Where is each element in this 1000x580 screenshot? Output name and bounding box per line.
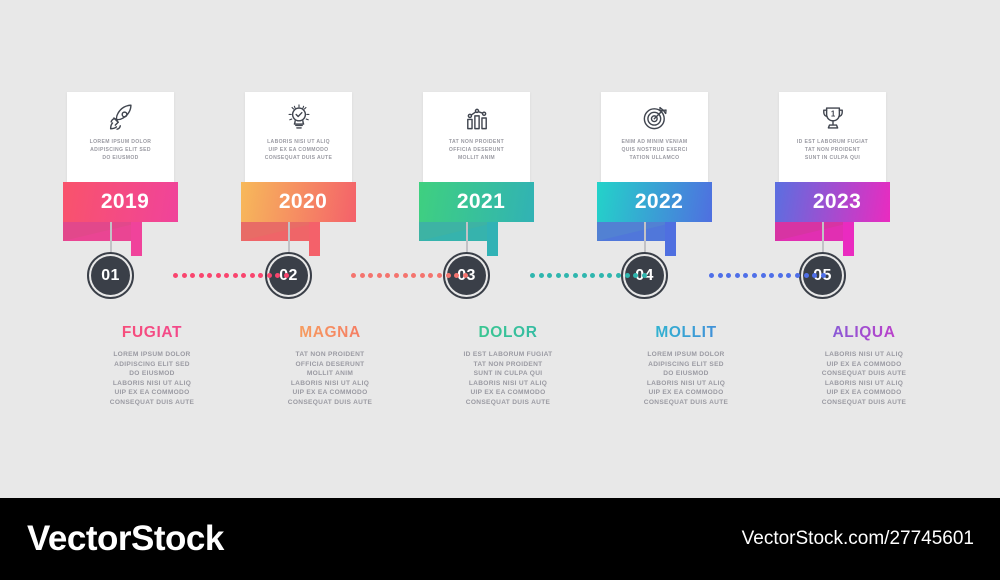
connector-dot [182, 273, 187, 278]
connector-dot [267, 273, 272, 278]
ribbon-tail [419, 222, 534, 256]
connector-dot [250, 273, 255, 278]
connector-dot [735, 273, 740, 278]
connector-dot [437, 273, 442, 278]
connector-dot [258, 273, 263, 278]
step-headline: DOLOR [419, 324, 597, 342]
step-body-line: LABORIS NISI UT ALIQ [419, 379, 597, 389]
step-body-text: LOREM IPSUM DOLORADIPISCING ELIT SEDDO E… [63, 350, 241, 408]
connector-dot [761, 273, 766, 278]
step-body-line: UIP EX EA COMMODO [63, 388, 241, 398]
connector-dot [385, 273, 390, 278]
connector-dot [190, 273, 195, 278]
connector-stem [288, 222, 290, 254]
connector-dot [428, 273, 433, 278]
step-headline: ALIQUA [775, 324, 953, 342]
connector-dot [812, 273, 817, 278]
connector-dot [564, 273, 569, 278]
step-body-text: LOREM IPSUM DOLORADIPISCING ELIT SEDDO E… [597, 350, 775, 408]
step-body-line: UIP EX EA COMMODO [775, 360, 953, 370]
connector-dot [769, 273, 774, 278]
step-body-text: TAT NON PROIDENTOFFICIA DESERUNTMOLLIT A… [241, 350, 419, 408]
card-description-line: LABORIS NISI UT ALIQ [249, 138, 348, 146]
step-body-line: CONSEQUAT DUIS AUTE [241, 398, 419, 408]
connector-dot [216, 273, 221, 278]
step-body-line: OFFICIA DESERUNT [241, 360, 419, 370]
step-body-line: UIP EX EA COMMODO [419, 388, 597, 398]
connector-stem [110, 222, 112, 254]
step-body-line: ID EST LABORUM FUGIAT [419, 350, 597, 360]
connector-dot [403, 273, 408, 278]
card-description: LABORIS NISI UT ALIQUIP EX EA COMMODOCON… [245, 138, 352, 163]
step-body-line: LABORIS NISI UT ALIQ [775, 379, 953, 389]
step-body-line: LOREM IPSUM DOLOR [63, 350, 241, 360]
card-description-line: TAT NON PROIDENT [427, 138, 526, 146]
connector-dot [420, 273, 425, 278]
step-headline: FUGIAT [63, 324, 241, 342]
connector-dot [642, 273, 647, 278]
connector-dot [726, 273, 731, 278]
step-body-line: LABORIS NISI UT ALIQ [775, 350, 953, 360]
vectorstock-url: VectorStock.com/27745601 [742, 528, 974, 550]
connector-dot [599, 273, 604, 278]
timeline-step: LABORIS NISI UT ALIQUIP EX EA COMMODOCON… [241, 0, 419, 498]
step-body-line: CONSEQUAT DUIS AUTE [775, 398, 953, 408]
dotted-connector [709, 272, 826, 279]
step-body-line: MOLLIT ANIM [241, 369, 419, 379]
card-description-line: DO EIUSMOD [71, 154, 170, 162]
connector-dot [718, 273, 723, 278]
card-description-line: SUNT IN CULPA QUI [783, 154, 882, 162]
card-description-line: MOLLIT ANIM [427, 154, 526, 162]
card-description-line: OFFICIA DESERUNT [427, 146, 526, 154]
connector-dot [446, 273, 451, 278]
step-body-line: TAT NON PROIDENT [241, 350, 419, 360]
step-body-line: CONSEQUAT DUIS AUTE [63, 398, 241, 408]
connector-dot [275, 273, 280, 278]
year-ribbon: 2021 [419, 182, 534, 222]
trophy-icon: 1 [779, 92, 886, 138]
timeline-step: TAT NON PROIDENTOFFICIA DESERUNTMOLLIT A… [419, 0, 597, 498]
connector-dot [241, 273, 246, 278]
card-description: TAT NON PROIDENTOFFICIA DESERUNTMOLLIT A… [423, 138, 530, 163]
step-card: TAT NON PROIDENTOFFICIA DESERUNTMOLLIT A… [423, 92, 530, 182]
target-arrow-icon [601, 92, 708, 138]
step-body-text: LABORIS NISI UT ALIQUIP EX EA COMMODOCON… [775, 350, 953, 408]
connector-dot [351, 273, 356, 278]
connector-dot [377, 273, 382, 278]
year-ribbon: 2023 [775, 182, 890, 222]
connector-dot [233, 273, 238, 278]
year-label: 2020 [241, 182, 356, 222]
connector-dot [530, 273, 535, 278]
ribbon-tail [597, 222, 712, 256]
card-description-line: ID EST LABORUM FUGIAT [783, 138, 882, 146]
step-body-line: LABORIS NISI UT ALIQ [241, 379, 419, 389]
connector-dot [625, 273, 630, 278]
year-ribbon: 2022 [597, 182, 712, 222]
connector-dot [173, 273, 178, 278]
card-description-line: QUIS NOSTRUD EXERCI [605, 146, 704, 154]
connector-dot [616, 273, 621, 278]
step-body-line: UIP EX EA COMMODO [775, 388, 953, 398]
timeline-step: 1 ID EST LABORUM FUGIATTAT NON PROIDENTS… [775, 0, 953, 498]
connector-dot [411, 273, 416, 278]
step-headline: MOLLIT [597, 324, 775, 342]
rocket-icon [67, 92, 174, 138]
year-ribbon: 2020 [241, 182, 356, 222]
connector-dot [539, 273, 544, 278]
connector-dot [547, 273, 552, 278]
step-body-line: LABORIS NISI UT ALIQ [63, 379, 241, 389]
card-description: LOREM IPSUM DOLORADIPISCING ELIT SEDDO E… [67, 138, 174, 163]
card-description-line: ENIM AD MINIM VENIAM [605, 138, 704, 146]
ribbon-tail [63, 222, 178, 256]
timeline-step: LOREM IPSUM DOLORADIPISCING ELIT SEDDO E… [63, 0, 241, 498]
step-body-line: UIP EX EA COMMODO [597, 388, 775, 398]
connector-stem [466, 222, 468, 254]
card-description-line: UIP EX EA COMMODO [249, 146, 348, 154]
connector-dot [821, 273, 826, 278]
connector-dot [607, 273, 612, 278]
step-card: LOREM IPSUM DOLORADIPISCING ELIT SEDDO E… [67, 92, 174, 182]
connector-dot [368, 273, 373, 278]
connector-dot [752, 273, 757, 278]
lightbulb-check-icon [245, 92, 352, 138]
year-label: 2019 [63, 182, 178, 222]
timeline-node[interactable]: 01 [87, 252, 134, 299]
step-body-line: CONSEQUAT DUIS AUTE [419, 398, 597, 408]
connector-dot [394, 273, 399, 278]
ribbon-tail [241, 222, 356, 256]
year-label: 2023 [775, 182, 890, 222]
card-description-line: LOREM IPSUM DOLOR [71, 138, 170, 146]
connector-dot [709, 273, 714, 278]
step-body-line: LOREM IPSUM DOLOR [597, 350, 775, 360]
connector-dot [778, 273, 783, 278]
dotted-connector [173, 272, 289, 279]
connector-dot [284, 273, 289, 278]
ribbon-tail [775, 222, 890, 256]
watermark-footer: VectorStock VectorStock.com/27745601 [0, 498, 1000, 580]
connector-dot [573, 273, 578, 278]
step-body-line: LABORIS NISI UT ALIQ [597, 379, 775, 389]
connector-dot [360, 273, 365, 278]
card-description: ID EST LABORUM FUGIATTAT NON PROIDENTSUN… [779, 138, 886, 163]
card-description-line: TAT NON PROIDENT [783, 146, 882, 154]
year-ribbon: 2019 [63, 182, 178, 222]
step-body-text: ID EST LABORUM FUGIATTAT NON PROIDENTSUN… [419, 350, 597, 408]
connector-dot [199, 273, 204, 278]
dotted-connector [530, 272, 647, 279]
step-card: LABORIS NISI UT ALIQUIP EX EA COMMODOCON… [245, 92, 352, 182]
connector-stem [822, 222, 824, 254]
connector-dot [590, 273, 595, 278]
bar-chart-icon [423, 92, 530, 138]
year-label: 2021 [419, 182, 534, 222]
connector-dot [556, 273, 561, 278]
connector-dot [454, 273, 459, 278]
vectorstock-logo: VectorStock [27, 519, 224, 559]
connector-dot [786, 273, 791, 278]
dotted-connector [351, 272, 468, 279]
step-body-line: DO EIUSMOD [63, 369, 241, 379]
step-card: ENIM AD MINIM VENIAMQUIS NOSTRUD EXERCIT… [601, 92, 708, 182]
connector-dot [463, 273, 468, 278]
timeline-step: ENIM AD MINIM VENIAMQUIS NOSTRUD EXERCIT… [597, 0, 775, 498]
connector-dot [804, 273, 809, 278]
step-body-line: CONSEQUAT DUIS AUTE [597, 398, 775, 408]
step-body-line: ADIPISCING ELIT SED [597, 360, 775, 370]
card-description-line: CONSEQUAT DUIS AUTE [249, 154, 348, 162]
card-description-line: TATION ULLAMCO [605, 154, 704, 162]
connector-dot [795, 273, 800, 278]
connector-dot [582, 273, 587, 278]
card-description: ENIM AD MINIM VENIAMQUIS NOSTRUD EXERCIT… [601, 138, 708, 163]
step-body-line: ADIPISCING ELIT SED [63, 360, 241, 370]
connector-dot [207, 273, 212, 278]
step-card: 1 ID EST LABORUM FUGIATTAT NON PROIDENTS… [779, 92, 886, 182]
year-label: 2022 [597, 182, 712, 222]
step-body-line: DO EIUSMOD [597, 369, 775, 379]
infographic-canvas: LOREM IPSUM DOLORADIPISCING ELIT SEDDO E… [0, 0, 1000, 498]
connector-dot [224, 273, 229, 278]
step-body-line: TAT NON PROIDENT [419, 360, 597, 370]
connector-dot [633, 273, 638, 278]
connector-dot [743, 273, 748, 278]
connector-stem [644, 222, 646, 254]
svg-text:1: 1 [830, 110, 835, 119]
node-number: 01 [91, 256, 130, 295]
step-body-line: CONSEQUAT DUIS AUTE [775, 369, 953, 379]
step-headline: MAGNA [241, 324, 419, 342]
step-body-line: UIP EX EA COMMODO [241, 388, 419, 398]
step-body-line: SUNT IN CULPA QUI [419, 369, 597, 379]
card-description-line: ADIPISCING ELIT SED [71, 146, 170, 154]
